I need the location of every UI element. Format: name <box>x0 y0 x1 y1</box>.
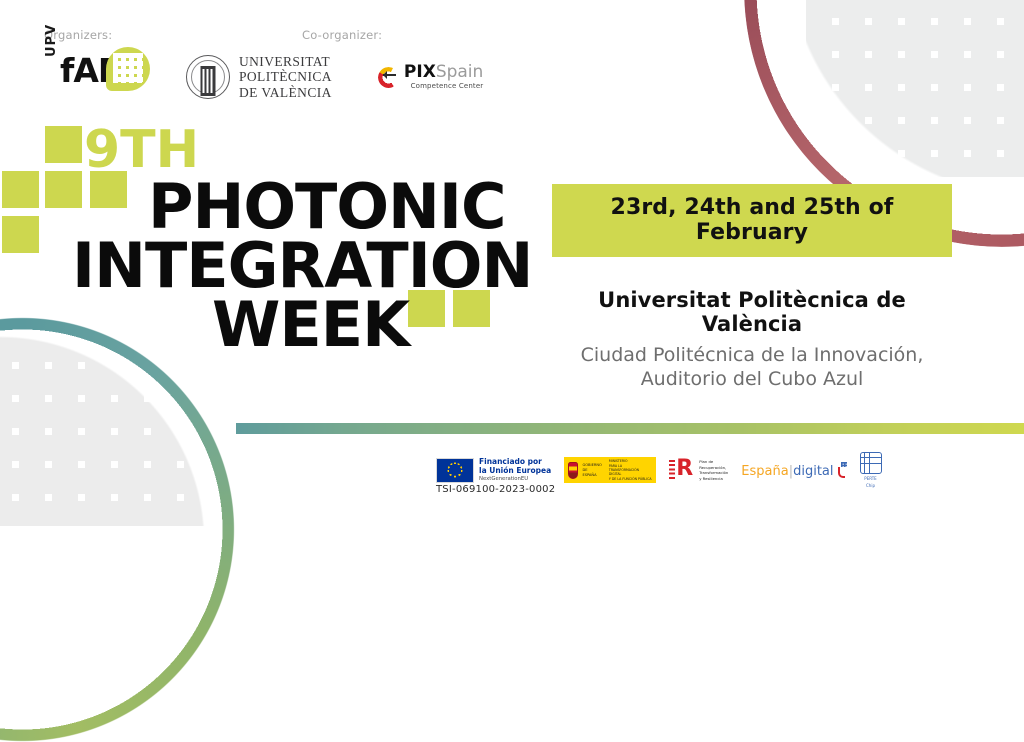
venue-name: Universitat Politècnica de València <box>552 288 952 336</box>
upv-fab-upv-text: UPV <box>44 24 59 57</box>
pixspain-spain: Spain <box>436 62 484 82</box>
title-square-5 <box>2 216 39 253</box>
bottom-left-arc <box>0 317 235 742</box>
gobierno-line-2: DE ESPAÑA <box>582 468 601 478</box>
espana-digital-mark-icon <box>836 462 847 478</box>
eu-line-2: la Unión Europea <box>479 467 551 476</box>
venue-address-line-1: Ciudad Politécnica de la Innovación, <box>552 343 952 367</box>
chip-icon <box>860 452 882 474</box>
eu-line-3: NextGenerationEU <box>479 476 551 482</box>
event-info: 23rd, 24th and 25th of February Universi… <box>552 184 952 392</box>
prtr-r-icon: R <box>669 458 695 482</box>
espana-digital-wordmark: España|digital <box>741 465 833 478</box>
spain-coat-of-arms-icon <box>568 462 578 479</box>
prtr-line-4: y Resiliencia <box>699 476 728 482</box>
pixspain-arrow-icon <box>378 67 399 88</box>
upv-line-1: UNIVERSITAT <box>239 54 332 69</box>
pixspain-tagline: Competence Center <box>404 83 483 90</box>
bottom-left-grid-pattern <box>0 336 276 526</box>
venue-address: Ciudad Politécnica de la Innovación, Aud… <box>552 343 952 392</box>
perte-line-2: Chip <box>860 483 882 488</box>
title-square-3 <box>45 171 82 208</box>
title-line-3: WEEK <box>212 294 409 356</box>
title-square-1 <box>45 126 82 163</box>
espana-digital-logo: España|digital <box>741 462 846 478</box>
upv-line-2: POLITÈCNICA <box>239 69 332 84</box>
eu-funding-logo: Financiado por la Unión Europea NextGene… <box>436 458 551 483</box>
horizontal-gradient-rule <box>236 423 1024 434</box>
espana-digital-part-2: digital <box>793 464 833 479</box>
ministerio-line-2: PARA LA TRANSFORMACIÓN DIGITAL <box>609 464 652 477</box>
ministerio-line-3: Y DE LA FUNCIÓN PÚBLICA <box>609 477 652 481</box>
upv-fab-logo: UPV fAB <box>44 51 152 103</box>
organizers-label: Organizers: <box>44 28 302 42</box>
reference-code: TSI-069100-2023-0002 <box>436 484 555 495</box>
upv-logo: UNIVERSITAT POLITÈCNICA DE VALÈNCIA <box>186 54 332 99</box>
upv-line-3: DE VALÈNCIA <box>239 85 332 100</box>
perte-chip-logo: PERTE Chip <box>860 452 882 488</box>
title-edition: 9TH <box>84 124 199 176</box>
prtr-letter: R <box>676 458 693 480</box>
perte-line-1: PERTE <box>860 476 882 481</box>
prtr-text: Plan de Recuperación, Transformación y R… <box>699 459 728 482</box>
coorganizer-label: Co-organizer: <box>302 28 382 42</box>
prtr-logo: R Plan de Recuperación, Transformación y… <box>669 458 728 482</box>
funding-logos: Financiado por la Unión Europea NextGene… <box>436 452 882 488</box>
banner-canvas: Organizers: Co-organizer: UPV fAB UNIVER… <box>0 0 1024 512</box>
gobierno-espana-logo: GOBIERNO DE ESPAÑA MINISTERIO PARA LA TR… <box>564 457 656 483</box>
pixspain-wordmark: PIXSpain <box>404 64 483 82</box>
eu-flag-icon <box>436 458 474 483</box>
top-right-grid-pattern <box>806 0 1024 177</box>
title-square-2 <box>2 171 39 208</box>
event-title: 9TH PHOTONIC INTEGRATION WEEK <box>0 118 520 338</box>
pixspain-logo: PIXSpain Competence Center <box>378 64 483 90</box>
upv-seal-icon <box>186 55 230 99</box>
event-dates-badge: 23rd, 24th and 25th of February <box>552 184 952 257</box>
upv-fab-dot-grid-icon <box>113 53 143 83</box>
header-logos: Organizers: Co-organizer: UPV fAB UNIVER… <box>44 28 483 103</box>
espana-digital-part-1: España <box>741 464 788 479</box>
venue-address-line-2: Auditorio del Cubo Azul <box>552 367 952 391</box>
pixspain-pix: PIX <box>404 62 436 82</box>
upv-logo-text: UNIVERSITAT POLITÈCNICA DE VALÈNCIA <box>239 54 332 99</box>
